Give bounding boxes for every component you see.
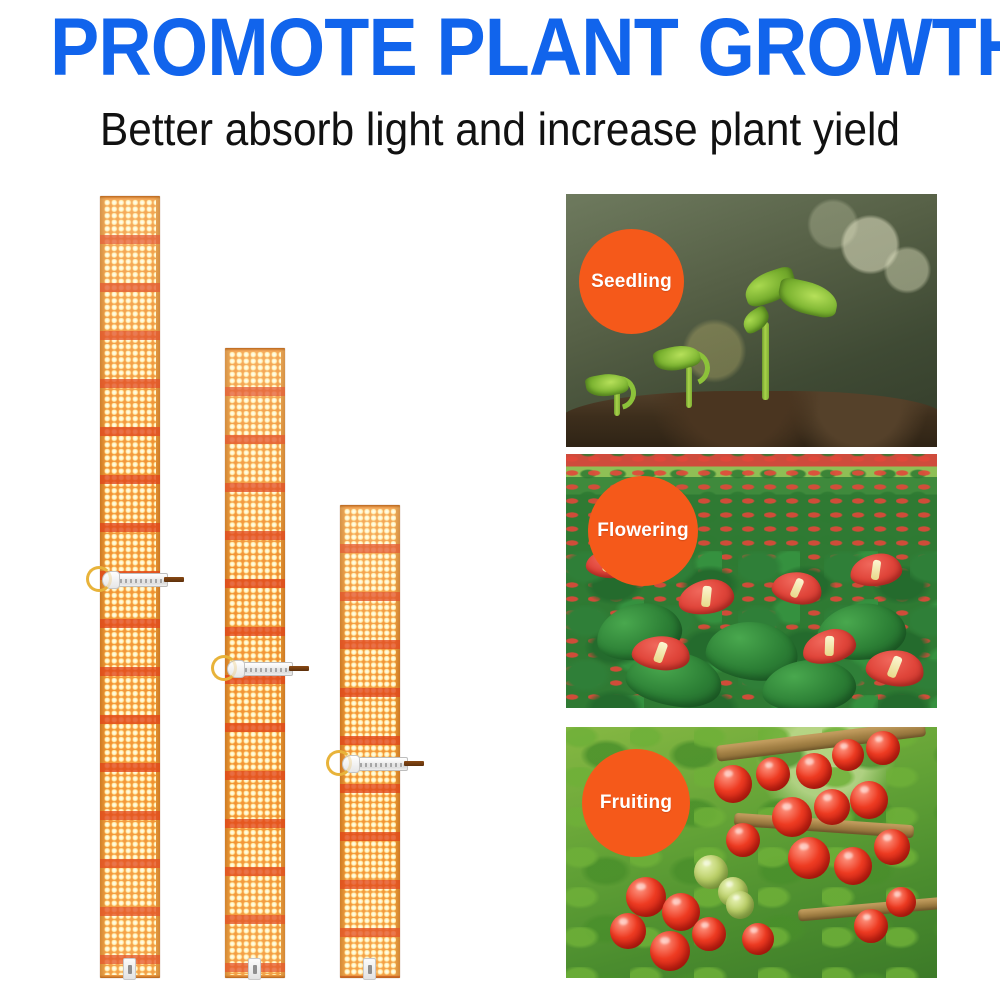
stage-badge-label: Seedling (591, 271, 672, 293)
panel-left-bottom-tab (123, 958, 136, 980)
panel-middle-bottom-tab (248, 958, 261, 980)
panel-top-rim (340, 505, 400, 508)
tomato-fruit (814, 789, 850, 825)
cable-ring-icon (326, 750, 352, 776)
tomato-fruit (692, 917, 726, 951)
stage-badge-seedling: Seedling (579, 229, 684, 334)
tomato-fruit (832, 739, 864, 771)
tomato-fruit (854, 909, 888, 943)
product-panels-group (0, 0, 540, 1000)
tomato-fruit (610, 913, 646, 949)
cable-ring-icon (86, 566, 112, 592)
tomato-fruit (834, 847, 872, 885)
stage-photo-fruiting: Fruiting (566, 727, 937, 978)
tomato-fruit (874, 829, 910, 865)
tomato-fruit (866, 731, 900, 765)
stage-photo-flowering: Flowering (566, 454, 937, 708)
panel-right-bottom-tab (363, 958, 376, 980)
tomato-fruit (626, 877, 666, 917)
tomato-fruit (742, 923, 774, 955)
tomato-fruit (714, 765, 752, 803)
stage-badge-fruiting: Fruiting (582, 749, 690, 857)
tomato-fruit (756, 757, 790, 791)
panel-top-rim (100, 196, 160, 199)
panel-right-connector (332, 754, 410, 774)
tomato-fruit (796, 753, 832, 789)
stage-badge-label: Fruiting (600, 792, 672, 814)
tomato-fruit (850, 781, 888, 819)
stage-photo-seedling: Seedling (566, 194, 937, 447)
tomato-fruit (886, 887, 916, 917)
connector-lead (404, 761, 424, 766)
panel-left-connector (92, 570, 170, 590)
cable-ring-icon (211, 655, 237, 681)
connector-lead (164, 577, 184, 582)
tomato-fruit (650, 931, 690, 971)
tomato-fruit-unripe (726, 891, 754, 919)
stage-badge-flowering: Flowering (588, 476, 698, 586)
connector-lead (289, 666, 309, 671)
panel-middle-connector (217, 659, 295, 679)
panel-top-rim (225, 348, 285, 351)
stage-badge-label: Flowering (597, 520, 689, 542)
tomato-fruit (788, 837, 830, 879)
led-glow-sheen (340, 505, 400, 978)
tomato-fruit (726, 823, 760, 857)
led-panel-right (340, 505, 400, 978)
tomato-fruit (772, 797, 812, 837)
